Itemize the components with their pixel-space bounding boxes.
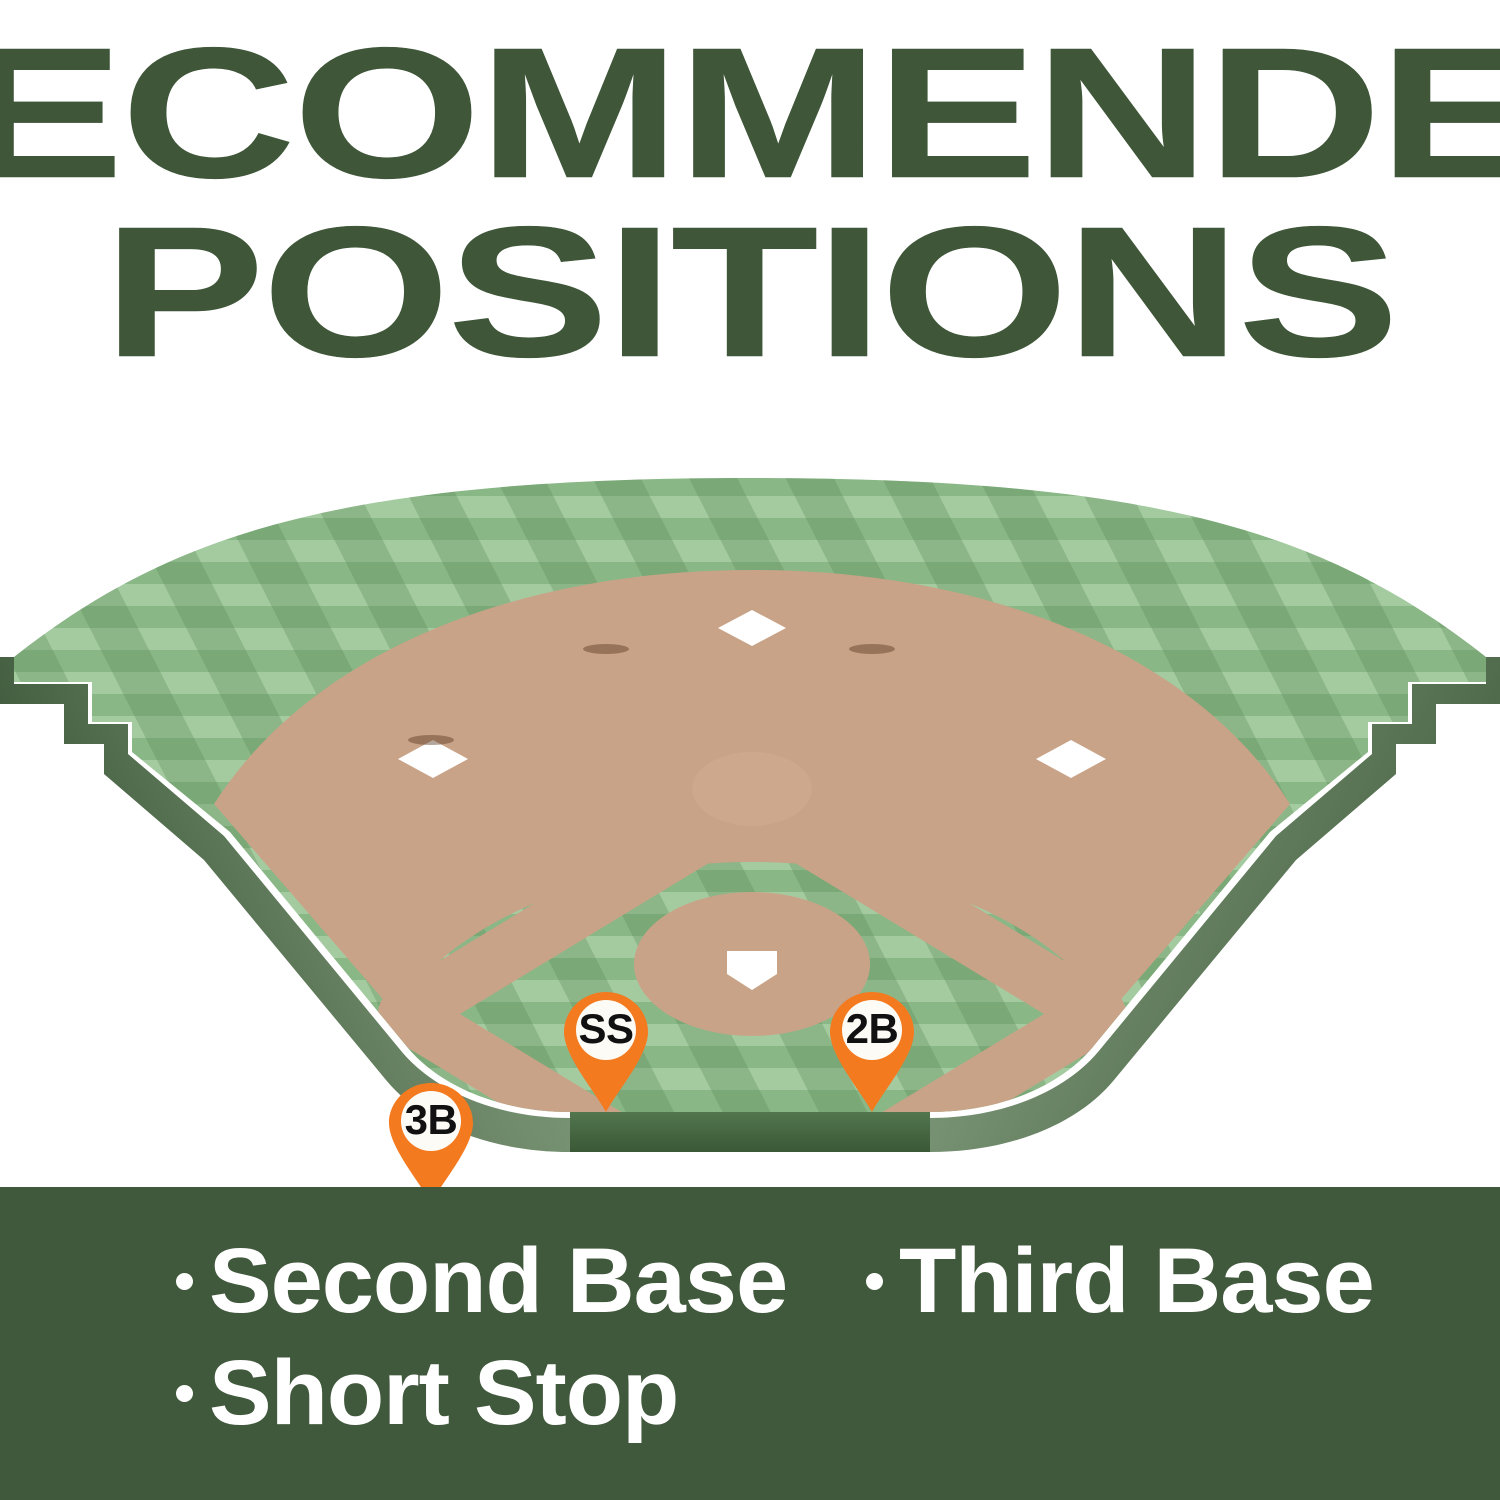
legend-row: Short Stop (176, 1345, 1396, 1457)
legend-grid: Second Base Third Base Short Stop (176, 1233, 1396, 1457)
bullet-icon (176, 1273, 193, 1290)
positions-legend-banner: Second Base Third Base Short Stop (0, 1187, 1500, 1500)
position-marker-label-2b: 2B (828, 1006, 916, 1052)
pin-shadow-2b (849, 644, 895, 654)
page-title-line-1: RECOMMENDED (0, 28, 1500, 199)
baseball-field-illustration: SS 2B 3B (0, 452, 1500, 1152)
position-marker-label-3b: 3B (387, 1097, 475, 1143)
pin-shadow-ss (583, 644, 629, 654)
field-graphic (0, 452, 1500, 1152)
legend-item-label: Short Stop (209, 1345, 678, 1441)
page-title: RECOMMENDED POSITIONS (0, 28, 1500, 378)
legend-item-empty (866, 1345, 1366, 1362)
position-marker-label-ss: SS (562, 1006, 650, 1052)
legend-item-third-base[interactable]: Third Base (866, 1233, 1366, 1329)
legend-item-label: Second Base (209, 1233, 787, 1329)
legend-row: Second Base Third Base (176, 1233, 1396, 1345)
legend-item-second-base[interactable]: Second Base (176, 1233, 866, 1329)
bullet-icon (176, 1385, 193, 1402)
position-marker-short-stop[interactable]: SS (562, 990, 650, 1114)
legend-item-short-stop[interactable]: Short Stop (176, 1345, 866, 1441)
legend-item-label: Third Base (899, 1233, 1374, 1329)
pin-shadow-3b (408, 735, 454, 745)
bullet-icon (866, 1273, 883, 1290)
infographic-page: RECOMMENDED POSITIONS (0, 0, 1500, 1500)
pitchers-mound (692, 752, 812, 826)
position-marker-second-base[interactable]: 2B (828, 990, 916, 1114)
page-title-line-2: POSITIONS (0, 207, 1500, 378)
